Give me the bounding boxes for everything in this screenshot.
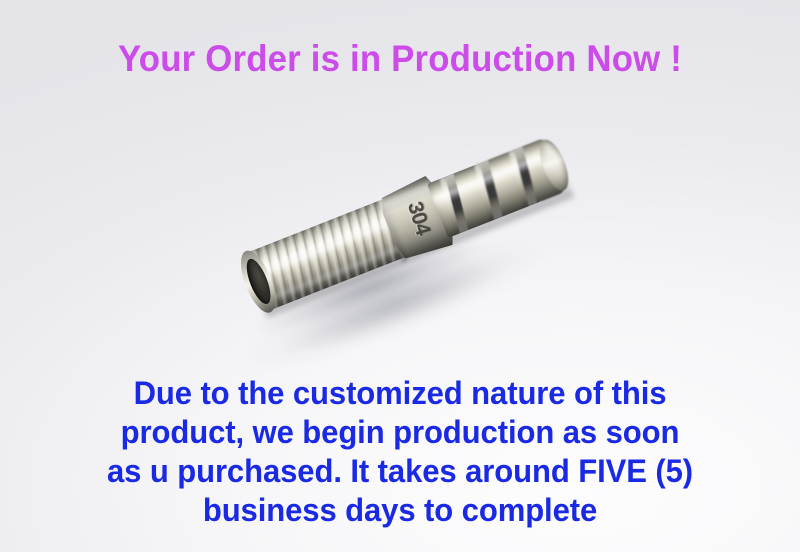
notice-line-1: Due to the customized nature of this (12, 374, 788, 413)
notice-text-block: Due to the customized nature of this pro… (0, 374, 800, 530)
product-photo: 304 (150, 110, 650, 380)
promo-image-canvas: Your Order is in Production Now ! 304 (0, 0, 800, 552)
notice-line-3: as u purchased. It takes around FIVE (5) (12, 452, 788, 491)
notice-line-4: business days to complete (12, 491, 788, 530)
notice-line-2: product, we begin production as soon (12, 413, 788, 452)
headline-text: Your Order is in Production Now ! (24, 36, 776, 82)
